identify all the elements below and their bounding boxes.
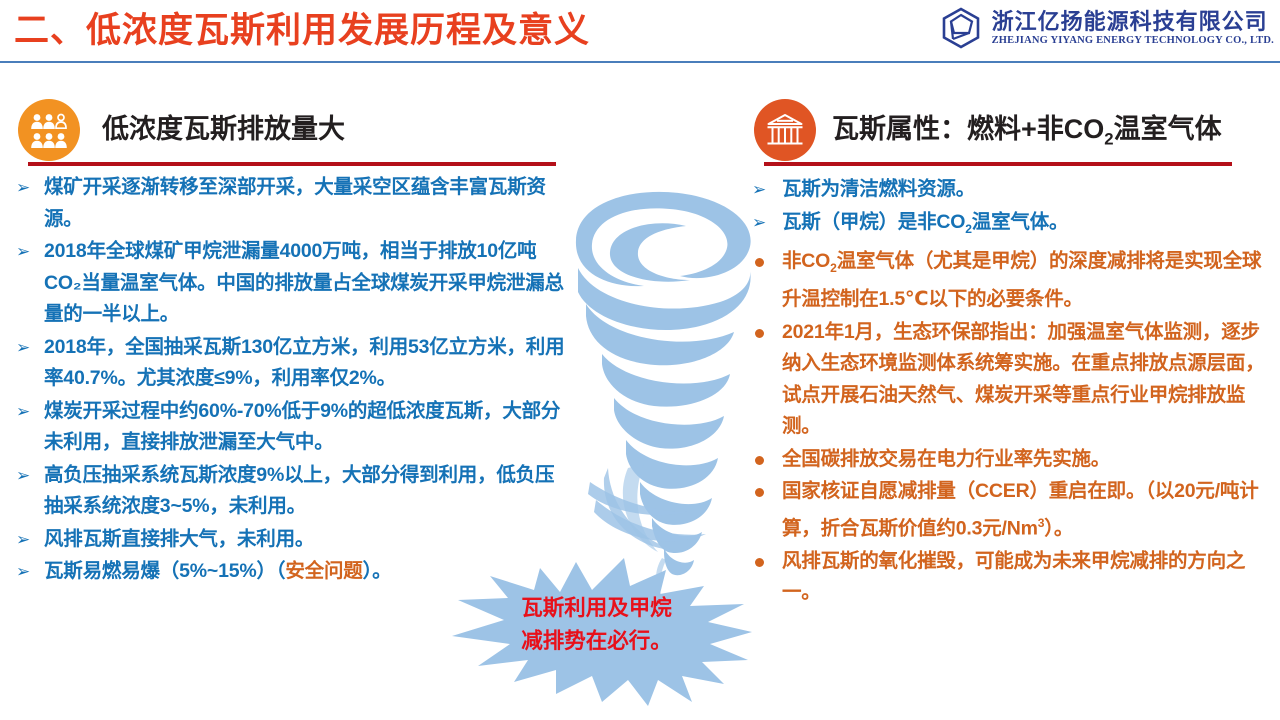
callout-line-1: 瓦斯利用及甲烷 [521, 596, 672, 620]
list-item: 风排瓦斯的氧化摧毁，可能成为未来甲烷减排的方向之一。 [750, 546, 1270, 609]
list-item: 煤炭开采过程中约60%-70%低于9%的超低浓度瓦斯，大部分未利用，直接排放泄漏… [14, 396, 570, 459]
text-pre: 国家核证自愿减排量（CCER）重启在即。（以20元/吨计算，折合瓦斯价值约0.3… [782, 480, 1259, 539]
right-bullet-list: 瓦斯为清洁燃料资源。 瓦斯（甲烷）是非CO2温室气体。 非CO2温室气体（尤其是… [750, 174, 1270, 609]
list-item: 风排瓦斯直接排大气，未利用。 [14, 524, 570, 556]
right-section-divider [764, 162, 1232, 166]
list-item: 全国碳排放交易在电力行业率先实施。 [750, 444, 1270, 476]
text-post: 温室气体。 [972, 211, 1069, 233]
left-bullet-list: 煤矿开采逐渐转移至深部开采，大量采空区蕴含丰富瓦斯资源。 2018年全球煤矿甲烷… [14, 172, 570, 588]
text-post: ）。 [1044, 517, 1073, 539]
left-section-divider [28, 162, 556, 166]
tornado-swirl-icon [548, 182, 768, 612]
list-item: 2018年，全国抽采瓦斯130亿立方米，利用53亿立方米，利用率40.7%。尤其… [14, 332, 570, 395]
logo-name-cn: 浙江亿扬能源科技有限公司 [992, 9, 1274, 34]
safety-text-post: ）。 [363, 560, 392, 582]
right-title-sub: 2 [1104, 129, 1113, 148]
logo-name-en: ZHEJIANG YIYANG ENERGY TECHNOLOGY CO., L… [992, 34, 1274, 47]
left-section-title: 低浓度瓦斯排放量大 [102, 110, 345, 148]
safety-highlight: 安全问题 [285, 560, 362, 582]
right-title-post: 温室气体 [1114, 114, 1222, 144]
left-column: 低浓度瓦斯排放量大 煤矿开采逐渐转移至深部开采，大量采空区蕴含丰富瓦斯资源。 2… [14, 96, 570, 589]
right-column: 瓦斯属性：燃料+非CO2温室气体 瓦斯为清洁燃料资源。 瓦斯（甲烷）是非CO2温… [750, 96, 1270, 610]
callout-line-2: 减排势在必行。 [521, 629, 672, 653]
right-title-pre: 瓦斯属性：燃料+非CO [832, 114, 1104, 144]
list-item: 高负压抽采系统瓦斯浓度9%以上，大部分得到利用，低负压抽采系统浓度3~5%，未利… [14, 460, 570, 523]
bank-building-icon [754, 99, 816, 161]
right-section-title: 瓦斯属性：燃料+非CO2温室气体 [832, 110, 1222, 158]
text-pre: 非CO [782, 250, 830, 272]
people-group-icon [18, 99, 80, 161]
list-item: 国家核证自愿减排量（CCER）重启在即。（以20元/吨计算，折合瓦斯价值约0.3… [750, 476, 1270, 545]
list-item: 瓦斯（甲烷）是非CO2温室气体。 [750, 207, 1270, 245]
list-item: 瓦斯为清洁燃料资源。 [750, 174, 1270, 206]
list-item: 非CO2温室气体（尤其是甲烷）的深度减排将是实现全球升温控制在1.5℃以下的必要… [750, 246, 1270, 316]
hexagon-logo-icon [939, 6, 983, 50]
list-item: 2018年全球煤矿甲烷泄漏量4000万吨，相当于排放10亿吨CO₂当量温室气体。… [14, 236, 570, 331]
header-divider [0, 61, 1280, 63]
list-item: 煤矿开采逐渐转移至深部开采，大量采空区蕴含丰富瓦斯资源。 [14, 172, 570, 235]
page-title: 二、低浓度瓦斯利用发展历程及意义 [14, 7, 590, 55]
right-section-header: 瓦斯属性：燃料+非CO2温室气体 [750, 96, 1270, 168]
company-logo: 浙江亿扬能源科技有限公司 ZHEJIANG YIYANG ENERGY TECH… [939, 6, 1274, 50]
text-post: 温室气体（尤其是甲烷）的深度减排将是实现全球升温控制在1.5℃以下的必要条件。 [782, 250, 1261, 310]
starburst-callout: 瓦斯利用及甲烷 减排势在必行。 [452, 556, 752, 706]
left-section-header: 低浓度瓦斯排放量大 [14, 96, 570, 168]
text-pre: 瓦斯（甲烷）是非CO [782, 211, 965, 233]
list-item: 2021年1月，生态环保部指出：加强温室气体监测，逐步纳入生态环境监测体系统筹实… [750, 317, 1270, 443]
safety-text-pre: 瓦斯易燃易爆（5%~15%）（ [44, 560, 285, 582]
slide-header: 二、低浓度瓦斯利用发展历程及意义 浙江亿扬能源科技有限公司 ZHEJIANG Y… [0, 0, 1280, 62]
callout-text: 瓦斯利用及甲烷 减排势在必行。 [494, 592, 699, 658]
